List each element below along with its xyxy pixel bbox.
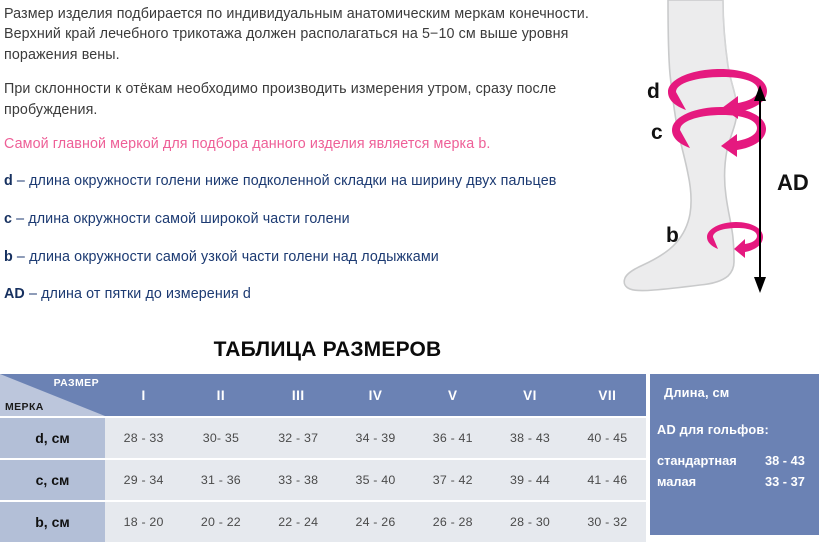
column-header-3: III [260,374,337,416]
size-table-zone: РАЗМЕР МЕРКА I II III IV V VI VII d, см … [0,374,819,535]
intro-paragraph-2: При склонности к отёкам необходимо произ… [4,79,604,120]
definition-dash-c: – [16,211,24,227]
cell-d-4: 34 - 39 [337,418,414,458]
panel-row-standard-name: стандартная [657,453,737,468]
definition-text-c: длина окружности самой широкой части гол… [28,211,349,227]
intro-text-column: Размер изделия подбирается по индивидуал… [4,4,604,322]
column-header-5: V [414,374,491,416]
definition-ad: AD – длина от пятки до измерения d [4,284,604,304]
cell-b-1: 18 - 20 [105,502,182,542]
row-cells-c: 29 - 34 31 - 36 33 - 38 35 - 40 37 - 42 … [105,460,646,500]
definition-key-ad: AD [4,286,25,302]
row-label-b: b, см [0,502,105,542]
leg-label-d: d [647,80,660,103]
leg-label-ad: AD [777,170,809,195]
cell-d-6: 38 - 43 [491,418,568,458]
definition-dash-ad: – [29,286,37,302]
leg-label-c: c [651,121,663,144]
cell-c-3: 33 - 38 [260,460,337,500]
cell-b-7: 30 - 32 [569,502,646,542]
cell-c-5: 37 - 42 [414,460,491,500]
corner-measure-label: МЕРКА [5,401,44,413]
highlight-note: Самой главной меркой для подбора данного… [4,134,604,154]
cell-c-4: 35 - 40 [337,460,414,500]
cell-c-1: 29 - 34 [105,460,182,500]
definition-d: d – длина окружности голени ниже подколе… [4,171,604,191]
definition-key-c: c [4,211,12,227]
cell-c-6: 39 - 44 [491,460,568,500]
table-header-row: РАЗМЕР МЕРКА I II III IV V VI VII [0,374,646,416]
table-column-headers: I II III IV V VI VII [105,374,646,416]
size-table: РАЗМЕР МЕРКА I II III IV V VI VII d, см … [0,374,646,542]
cell-b-4: 24 - 26 [337,502,414,542]
definition-dash-d: – [17,173,25,189]
panel-subtitle: AD для гольфов: [657,422,769,437]
cell-d-3: 32 - 37 [260,418,337,458]
definition-dash-b: – [17,249,25,265]
definition-text-d: длина окружности голени ниже подколенной… [29,173,556,189]
leg-silhouette-icon [624,0,737,291]
row-label-d: d, см [0,418,105,458]
panel-row-small-value: 33 - 37 [765,474,805,489]
intro-paragraph-1: Размер изделия подбирается по индивидуал… [4,4,604,65]
cell-b-2: 20 - 22 [182,502,259,542]
cell-d-7: 40 - 45 [569,418,646,458]
definition-b: b – длина окружности самой узкой части г… [4,247,604,267]
definition-text-b: длина окружности самой узкой части голен… [29,249,439,265]
table-row: b, см 18 - 20 20 - 22 22 - 24 24 - 26 26… [0,502,646,542]
panel-row-small-name: малая [657,474,696,489]
table-corner-cell: РАЗМЕР МЕРКА [0,374,105,416]
cell-d-1: 28 - 33 [105,418,182,458]
row-cells-b: 18 - 20 20 - 22 22 - 24 24 - 26 26 - 28 … [105,502,646,542]
leg-diagram-svg: d c b AD [610,0,819,330]
table-row: с, см 29 - 34 31 - 36 33 - 38 35 - 40 37… [0,460,646,500]
panel-title: Длина, см [664,385,729,400]
leg-label-b: b [666,224,679,247]
column-header-4: IV [337,374,414,416]
table-row: d, см 28 - 33 30- 35 32 - 37 34 - 39 36 … [0,418,646,458]
definition-key-d: d [4,173,13,189]
column-header-7: VII [569,374,646,416]
size-guide-page: Размер изделия подбирается по индивидуал… [0,0,819,535]
column-header-1: I [105,374,182,416]
definition-key-b: b [4,249,13,265]
cell-c-2: 31 - 36 [182,460,259,500]
column-header-2: II [182,374,259,416]
table-title: ТАБЛИЦА РАЗМЕРОВ [0,338,655,362]
definition-c: c – длина окружности самой широкой части… [4,209,604,229]
cell-d-2: 30- 35 [182,418,259,458]
length-info-panel: Длина, см AD для гольфов: стандартная 38… [650,374,819,535]
cell-d-5: 36 - 41 [414,418,491,458]
leg-measurement-illustration: d c b AD [610,0,819,330]
corner-size-label: РАЗМЕР [54,377,99,389]
cell-b-3: 22 - 24 [260,502,337,542]
panel-row-standard-value: 38 - 43 [765,453,805,468]
column-header-6: VI [491,374,568,416]
row-label-c: с, см [0,460,105,500]
definition-text-ad: длина от пятки до измерения d [41,286,251,302]
cell-c-7: 41 - 46 [569,460,646,500]
cell-b-6: 28 - 30 [491,502,568,542]
cell-b-5: 26 - 28 [414,502,491,542]
row-cells-d: 28 - 33 30- 35 32 - 37 34 - 39 36 - 41 3… [105,418,646,458]
